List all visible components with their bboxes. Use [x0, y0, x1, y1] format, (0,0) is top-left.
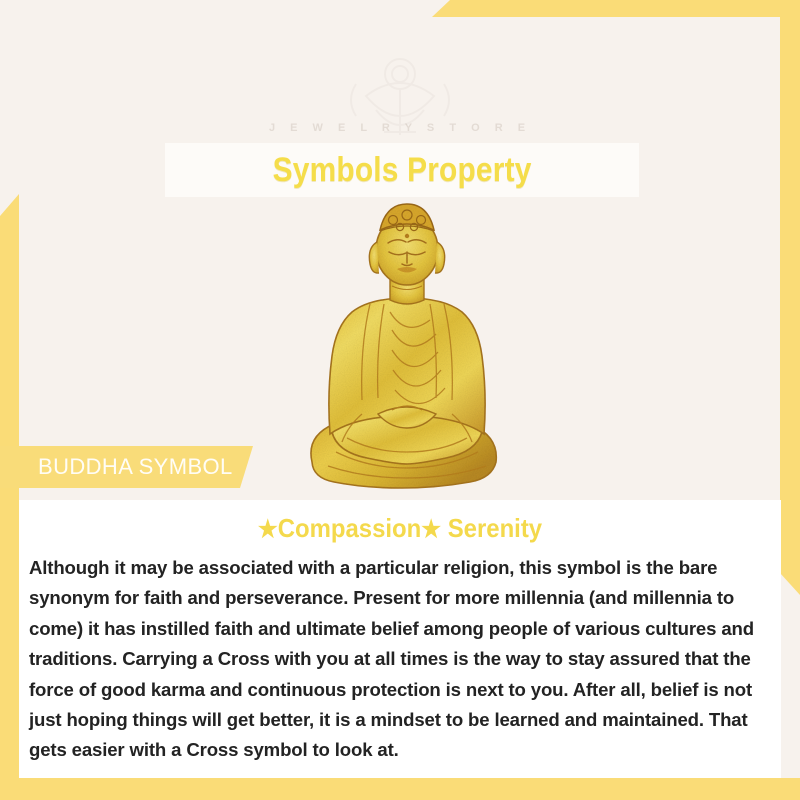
buddha-statue-illustration	[292, 200, 522, 492]
product-info-card: J E W E L R Y S T O R E Symbols Property	[0, 0, 800, 800]
watermark-caption: J E W E L R Y S T O R E	[269, 122, 531, 134]
content-panel: ★Compassion★ Serenity Although it may be…	[19, 500, 781, 778]
star-icon: ★	[258, 516, 278, 543]
section-ribbon: BUDDHA SYMBOL	[0, 446, 253, 488]
attributes-subtitle: ★Compassion★ Serenity	[49, 513, 750, 544]
attribute-compassion: Compassion	[278, 513, 422, 543]
description-paragraph: Although it may be associated with a par…	[29, 553, 767, 766]
title-plate: Symbols Property	[165, 143, 639, 197]
top-accent-band	[432, 0, 800, 17]
attribute-serenity: Serenity	[448, 513, 542, 543]
page-title: Symbols Property	[273, 151, 532, 190]
brand-watermark-icon	[280, 40, 520, 160]
section-ribbon-label: BUDDHA SYMBOL	[38, 454, 233, 480]
bottom-accent-band	[0, 778, 800, 800]
star-icon: ★	[421, 516, 441, 543]
right-accent-band	[780, 17, 800, 595]
